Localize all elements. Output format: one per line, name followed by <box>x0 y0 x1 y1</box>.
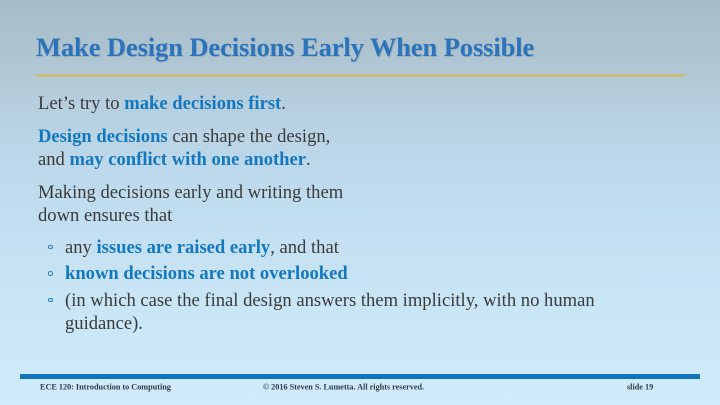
slide-body: Let’s try to make decisions first. Desig… <box>38 92 658 339</box>
paragraph3-line-1: Making decisions early and writing them <box>38 182 343 203</box>
bullet-1-plain-before: any <box>65 237 97 258</box>
footer-divider-bar <box>20 374 700 379</box>
page-title: Make Design Decisions Early When Possibl… <box>36 31 696 63</box>
paragraph-try-make-decisions: Let’s try to make decisions first. <box>38 92 658 116</box>
bullet-circle-icon <box>48 298 53 303</box>
paragraph-design-decisions: Design decisions can shape the design, a… <box>38 125 658 172</box>
paragraph2-plain-before: and <box>38 149 70 170</box>
paragraph1-plain-after: . <box>281 93 286 114</box>
paragraph3-line-2: down ensures that <box>38 205 172 226</box>
paragraph1-highlight: make decisions first <box>124 93 281 114</box>
footer-copyright-label: © 2016 Steven S. Lumetta. All rights res… <box>263 383 424 392</box>
bullet-text: (in which case the final design answers … <box>65 289 658 336</box>
presentation-slide: Make Design Decisions Early When Possibl… <box>0 0 720 405</box>
paragraph2-plain-after: . <box>306 149 311 170</box>
footer-slide-number: slide 19 <box>627 383 653 392</box>
footer-course-label: ECE 120: Introduction to Computing <box>40 383 171 392</box>
bullet-text: any issues are raised early, and that <box>65 236 658 260</box>
bullet-1-plain-after: , and that <box>270 237 339 258</box>
title-divider-rule <box>36 74 685 77</box>
paragraph-making-decisions-early: Making decisions early and writing them … <box>38 181 658 228</box>
paragraph1-plain-before: Let’s try to <box>38 93 124 114</box>
bullet-list: any issues are raised early, and that kn… <box>38 236 658 336</box>
paragraph2-highlight-2: may conflict with one another <box>70 149 307 170</box>
paragraph2-highlight-1: Design decisions <box>38 126 168 147</box>
list-item: (in which case the final design answers … <box>46 289 658 336</box>
paragraph2-plain-mid: can shape the design, <box>168 126 331 147</box>
list-item: known decisions are not overlooked <box>46 262 658 286</box>
bullet-2-highlight: known decisions are not overlooked <box>65 263 348 284</box>
bullet-text: known decisions are not overlooked <box>65 262 658 286</box>
list-item: any issues are raised early, and that <box>46 236 658 260</box>
bullet-circle-icon <box>48 245 53 250</box>
bullet-1-highlight: issues are raised early <box>97 237 271 258</box>
bullet-circle-icon <box>48 271 53 276</box>
